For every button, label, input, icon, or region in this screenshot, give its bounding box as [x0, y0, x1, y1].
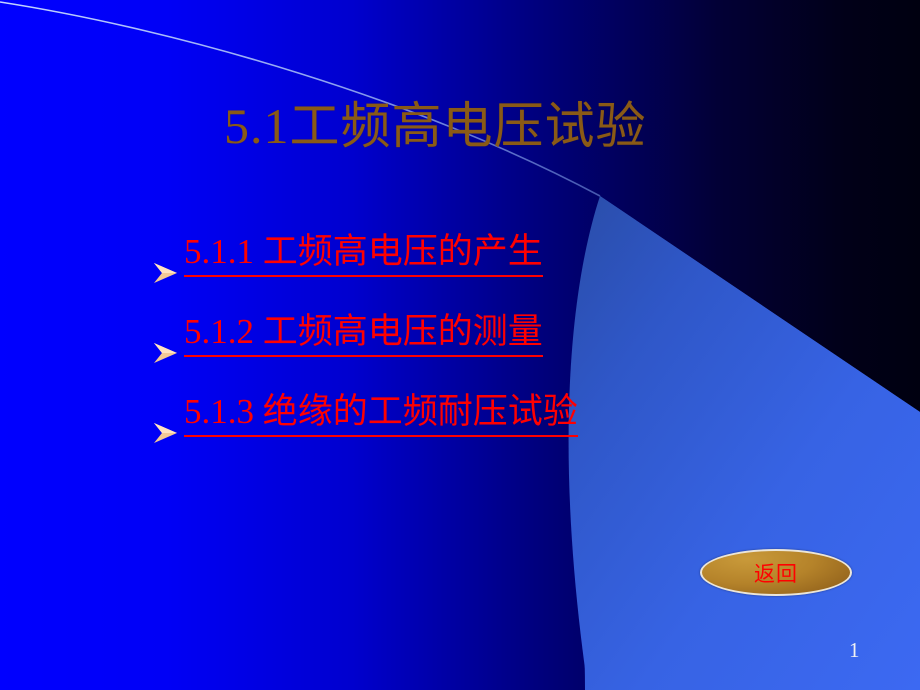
bullet-link-512[interactable]: 5.1.2 工频高电压的测量: [184, 312, 543, 357]
bullet-item-513[interactable]: 5.1.3 绝缘的工频耐压试验: [150, 392, 790, 472]
bullet-link-513[interactable]: 5.1.3 绝缘的工频耐压试验: [184, 392, 578, 437]
bullet-item-511[interactable]: 5.1.1 工频高电压的产生: [150, 232, 790, 312]
bullet-item-512[interactable]: 5.1.2 工频高电压的测量: [150, 312, 790, 392]
page-number: 1: [849, 638, 860, 663]
bullet-link-511[interactable]: 5.1.1 工频高电压的产生: [184, 232, 543, 277]
return-button-label: 返回: [754, 558, 798, 588]
arrowhead-bullet-icon: [150, 258, 180, 288]
arrowhead-bullet-icon: [150, 418, 180, 448]
bullet-list: 5.1.1 工频高电压的产生 5.1.2 工频高电压的测量 5.1.3 绝缘的工…: [150, 232, 790, 472]
return-button[interactable]: 返回: [700, 549, 852, 596]
presentation-slide: 5.1工频高电压试验 5.1.1 工频高电压的产生 5.1.2 工频高电压的测量: [0, 0, 920, 690]
arrowhead-bullet-icon: [150, 338, 180, 368]
slide-title: 5.1工频高电压试验: [224, 98, 647, 154]
